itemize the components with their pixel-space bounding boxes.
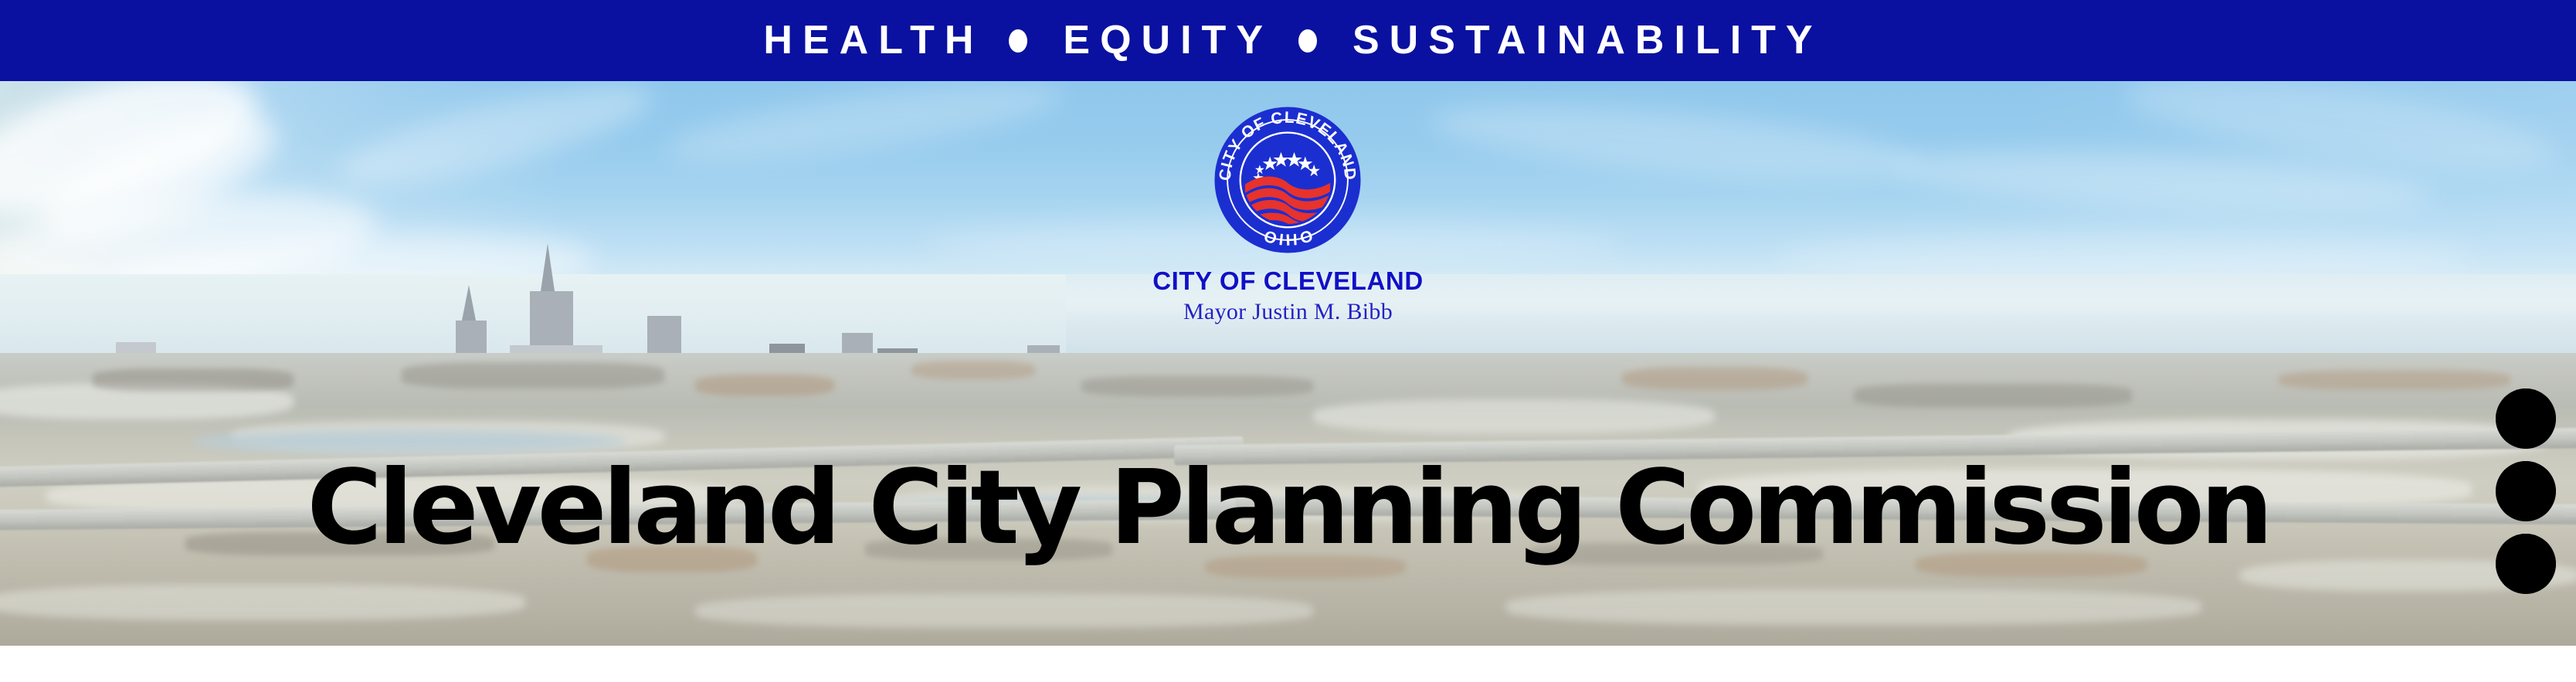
city-name-line: CITY OF CLEVELAND — [0, 266, 2576, 296]
banner-separator-dot-2 — [1298, 29, 1317, 53]
top-banner: HEALTH EQUITY SUSTAINABILITY — [0, 0, 2576, 81]
facebook-icon — [2496, 534, 2556, 594]
social-links — [2496, 389, 2556, 606]
social-link-facebook[interactable] — [2496, 534, 2556, 594]
banner-word-equity: EQUITY — [1063, 20, 1273, 60]
banner-word-sustainability: SUSTAINABILITY — [1352, 20, 1823, 60]
youtube-icon — [2496, 389, 2556, 449]
instagram-icon — [2496, 461, 2556, 521]
banner-separator-dot-1 — [1009, 29, 1027, 53]
banner-tagline: HEALTH EQUITY SUSTAINABILITY — [753, 20, 1822, 60]
city-seal: CITY OF CLEVELAND OHIO — [1214, 107, 1361, 253]
bottom-white-strip — [0, 646, 2576, 682]
banner-word-health: HEALTH — [763, 20, 983, 60]
page-root: HEALTH EQUITY SUSTAINABILITY — [0, 0, 2576, 682]
city-of-cleveland-seal-icon: CITY OF CLEVELAND OHIO — [1214, 107, 1361, 253]
social-link-youtube[interactable] — [2496, 389, 2556, 449]
mayor-name-line: Mayor Justin M. Bibb — [0, 299, 2576, 325]
hero-photo: CITY OF CLEVELAND OHIO — [0, 81, 2576, 646]
page-title: Cleveland City Planning Commission — [0, 457, 2576, 560]
social-link-instagram[interactable] — [2496, 461, 2556, 521]
